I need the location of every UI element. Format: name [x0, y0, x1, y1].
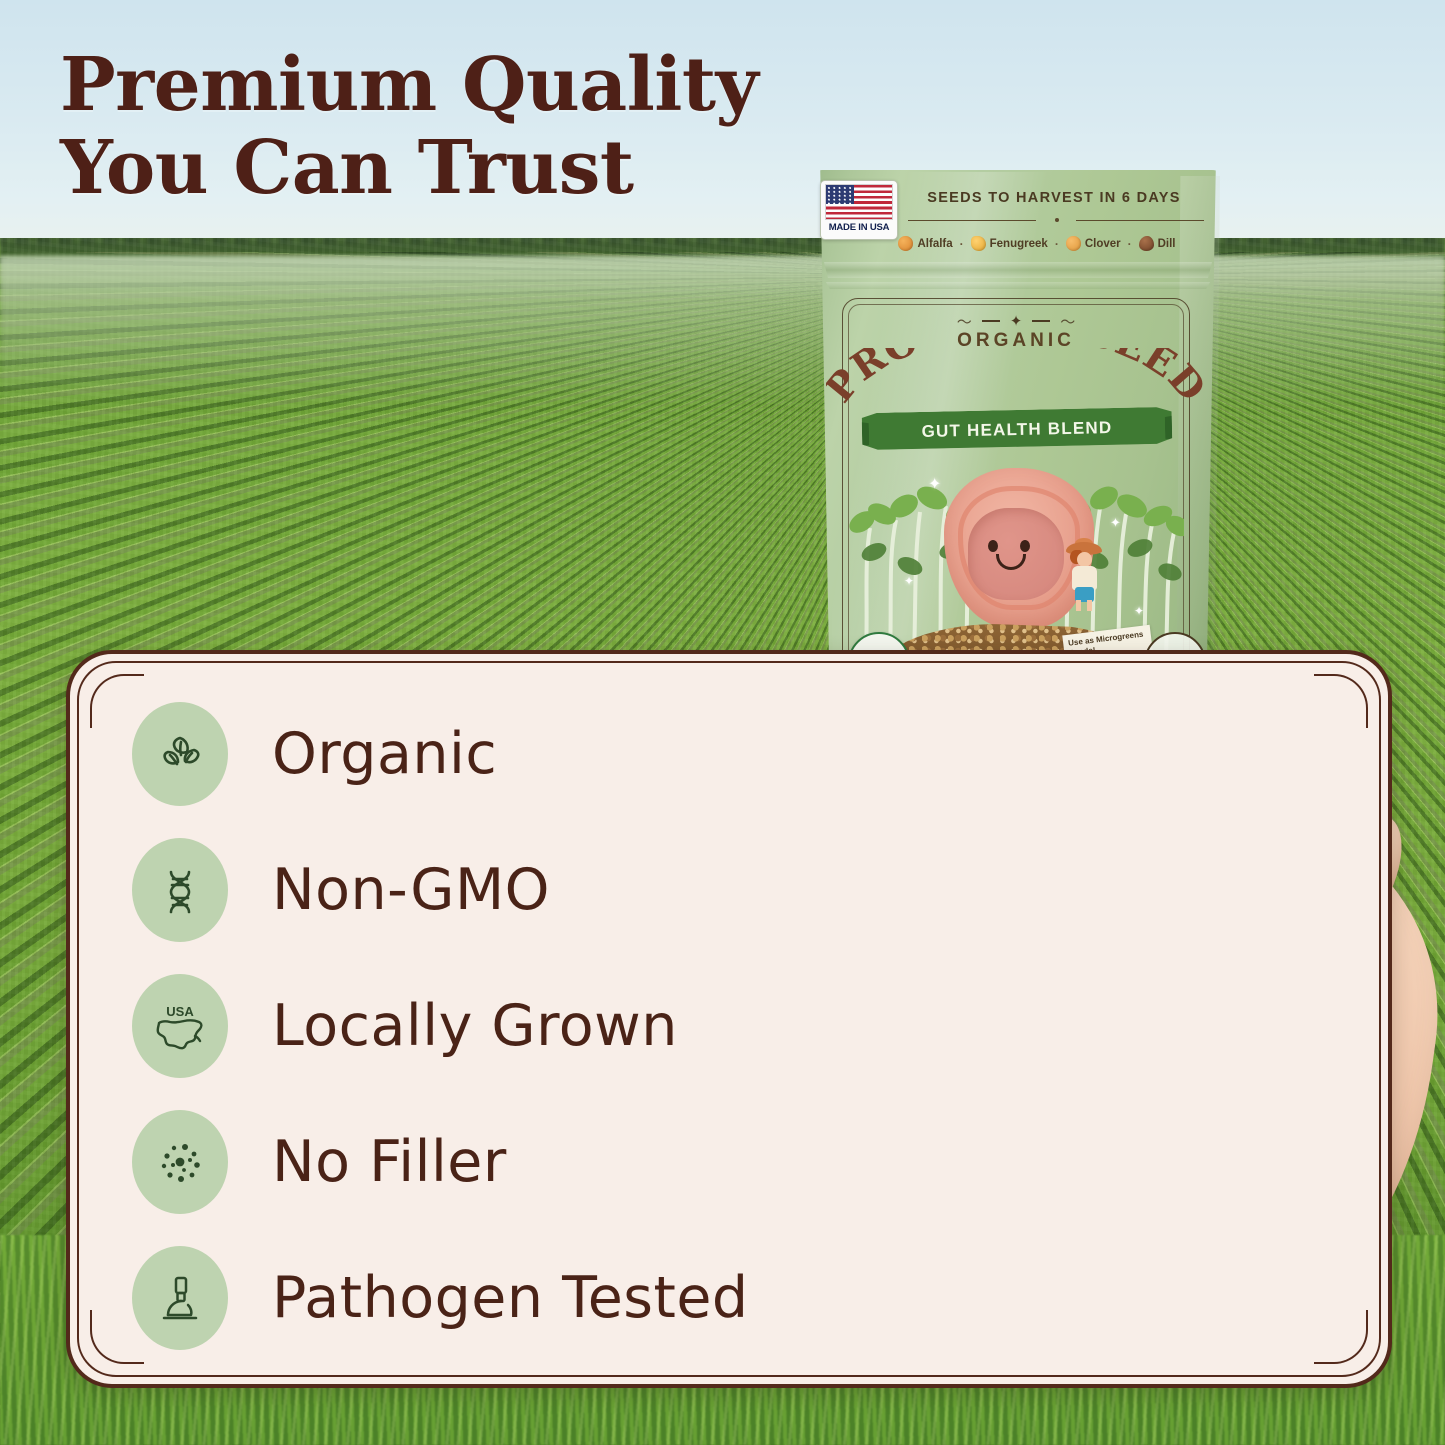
feature-item-pathogen-tested: Pathogen Tested [132, 1242, 892, 1354]
scattered-dots-icon [132, 1110, 228, 1214]
headline-line-1: Premium Quality [60, 42, 758, 128]
svg-text:SPROUTING SEEDS: SPROUTING SEEDS [826, 348, 1206, 411]
feature-label: Organic [272, 721, 497, 787]
seed-type-clover: Clover [1066, 236, 1121, 251]
made-in-usa-label: MADE IN USA [829, 222, 890, 233]
sparkle-icon: ✦ [928, 474, 941, 493]
feature-label: Locally Grown [272, 993, 678, 1059]
sparkle-icon: ✦ [1110, 516, 1121, 531]
feature-label: Pathogen Tested [272, 1265, 749, 1331]
wave-ornament-left: 〜 [957, 311, 972, 332]
gut-eye-left [988, 540, 998, 552]
corner-ornament-top-right [1314, 674, 1368, 728]
made-in-usa-badge: MADE IN USA [820, 180, 898, 240]
package-artwork: ✦ ✦ ✦ ✦ [848, 454, 1184, 654]
feature-item-no-filler: No Filler [132, 1106, 892, 1218]
clover-seed-icon [1066, 236, 1081, 251]
seed-type-label: Clover [1085, 238, 1121, 250]
seed-type-label: Dill [1158, 238, 1176, 250]
sparkle-icon: ✦ [904, 574, 914, 588]
seed-type-list: Alfalfa · Fenugreek · Clover · Dill [866, 236, 1208, 251]
page-title: Premium Quality You Can Trust [60, 44, 880, 210]
feature-label: Non-GMO [272, 857, 550, 923]
seed-separator: · [1055, 238, 1059, 250]
seed-type-label: Alfalfa [917, 238, 952, 250]
usa-map-icon: USA [132, 974, 228, 1078]
harvest-claim: SEEDS TO HARVEST IN 6 DAYS [904, 190, 1204, 206]
feature-label: No Filler [272, 1129, 507, 1195]
dill-seed-icon [1139, 236, 1154, 251]
seed-separator: · [1128, 238, 1132, 250]
microscope-icon [132, 1246, 228, 1350]
fenugreek-seed-icon [971, 236, 986, 251]
seed-type-label: Fenugreek [990, 238, 1048, 250]
farmer-character-icon [1064, 542, 1104, 612]
seed-separator: · [960, 238, 964, 250]
diamond-sparkle-icon: ✦ [1010, 312, 1023, 330]
feature-item-non-gmo: Non-GMO [132, 834, 892, 946]
feature-item-organic: Organic [132, 698, 892, 810]
features-card: Organic Non-GMO USA [66, 650, 1392, 1388]
seed-type-alfalfa: Alfalfa [898, 236, 952, 251]
package-zipper-seal [820, 262, 1216, 278]
gut-eye-right [1020, 540, 1030, 552]
label-ornament: 〜 ✦ 〜 [842, 312, 1190, 330]
alfalfa-seed-icon [898, 236, 913, 251]
headline-line-2: You Can Trust [60, 127, 880, 210]
seed-type-dill: Dill [1139, 236, 1176, 251]
leaves-icon [132, 702, 228, 806]
product-marketing-image: Premium Quality You Can Trust MADE IN US… [0, 0, 1445, 1445]
package-title-text: SPROUTING SEEDS [826, 348, 1206, 411]
package-zipper-seam [822, 282, 1214, 289]
us-flag-icon [825, 184, 893, 220]
feature-list: Organic Non-GMO USA [132, 680, 892, 1368]
sparkle-icon: ✦ [1134, 604, 1144, 618]
feature-item-locally-grown: USA Locally Grown [132, 970, 892, 1082]
corner-ornament-bottom-right [1314, 1310, 1368, 1364]
wave-ornament-right: 〜 [1060, 311, 1075, 332]
svg-text:USA: USA [166, 1004, 194, 1019]
seed-type-fenugreek: Fenugreek [971, 236, 1048, 251]
harvest-divider [908, 216, 1204, 226]
dna-helix-icon [132, 838, 228, 942]
